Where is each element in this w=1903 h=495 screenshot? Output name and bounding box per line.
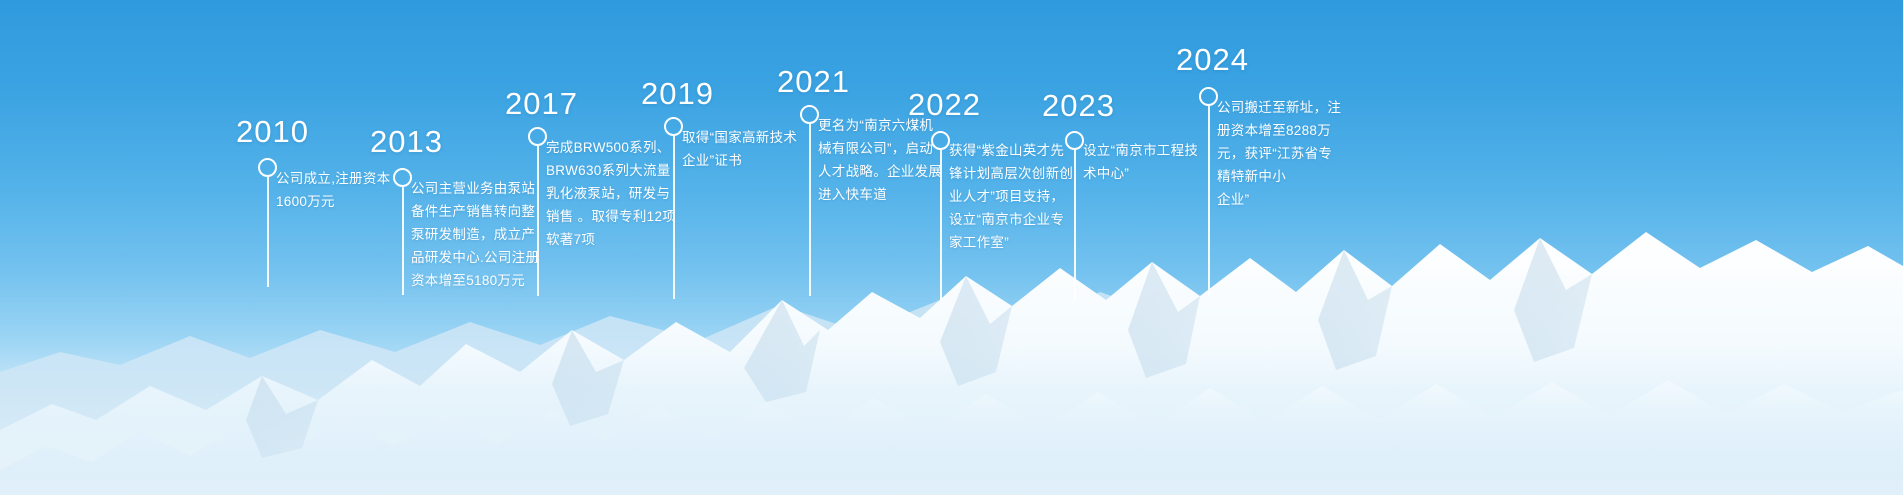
timeline-banner: 2010公司成立,注册资本 1600万元2013公司主营业务由泵站 备件生产销售… xyxy=(0,0,1903,495)
timeline-year-label: 2024 xyxy=(1176,42,1249,78)
timeline-stem-line xyxy=(1208,106,1210,296)
timeline-stem-line xyxy=(402,187,404,295)
timeline-year-label: 2022 xyxy=(908,87,981,123)
timeline-node-dot-icon xyxy=(931,131,950,150)
timeline-node-dot-icon xyxy=(1065,131,1084,150)
timeline-node-dot-icon xyxy=(528,127,547,146)
timeline-year-label: 2019 xyxy=(641,76,714,112)
timeline-stem-line xyxy=(1074,150,1076,300)
timeline-node-dot-icon xyxy=(664,117,683,136)
timeline-stem-line xyxy=(940,150,942,300)
timeline-stem-line xyxy=(809,124,811,296)
timeline-year-label: 2023 xyxy=(1042,88,1115,124)
timeline-year-label: 2010 xyxy=(236,114,309,150)
timeline-node-dot-icon xyxy=(800,105,819,124)
timeline-year-label: 2021 xyxy=(777,64,850,100)
timeline-year-label: 2013 xyxy=(370,124,443,160)
timeline-stem-line xyxy=(267,177,269,287)
timeline-node-dot-icon xyxy=(1199,87,1218,106)
timeline-stem-line xyxy=(673,136,675,299)
timeline-description: 公司搬迁至新址，注 册资本增至8288万 元，获评“江苏省专 精特新中小 企业” xyxy=(1217,96,1377,211)
timeline-node-dot-icon xyxy=(258,158,277,177)
timeline-node-dot-icon xyxy=(393,168,412,187)
timeline-year-label: 2017 xyxy=(505,86,578,122)
timeline-stem-line xyxy=(537,146,539,296)
timeline-description: 取得“国家高新技术 企业”证书 xyxy=(682,126,837,172)
